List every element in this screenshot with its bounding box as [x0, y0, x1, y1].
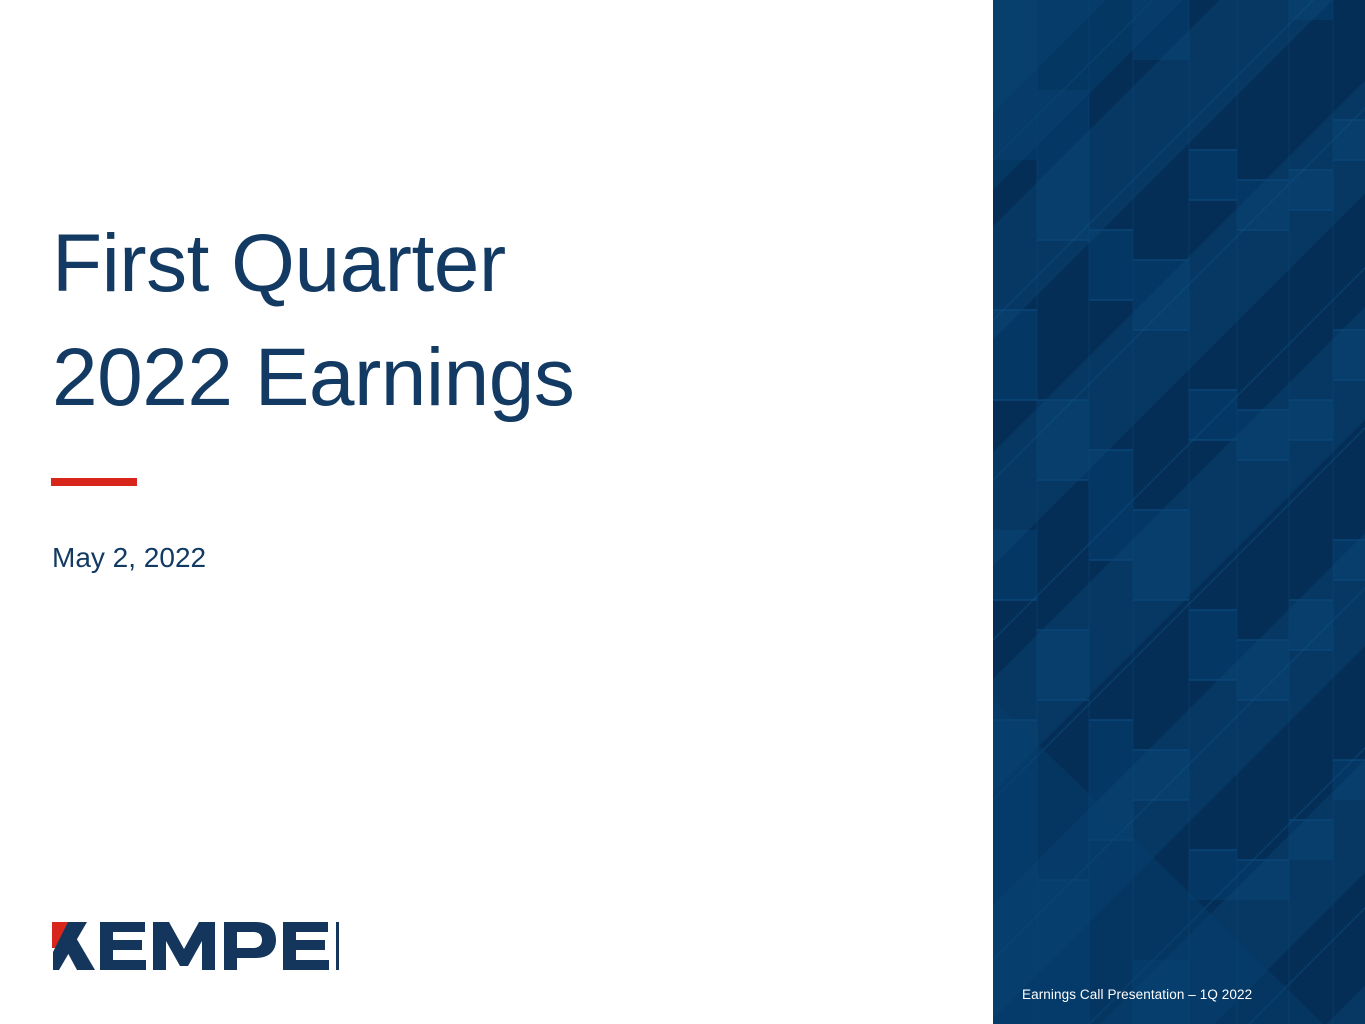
title-pane: First Quarter 2022 Earnings May 2, 2022 [0, 0, 993, 1024]
title-line-2: 2022 Earnings [52, 321, 752, 435]
red-accent-rule [51, 478, 137, 486]
geometric-pattern-icon [993, 0, 1365, 1024]
logo-wordmark [53, 922, 339, 970]
slide-footer: Earnings Call Presentation – 1Q 2022 [1022, 987, 1252, 1003]
presentation-slide: First Quarter 2022 Earnings May 2, 2022 [0, 0, 1365, 1024]
kemper-logo [50, 916, 340, 978]
decorative-side-panel: Earnings Call Presentation – 1Q 2022 [993, 0, 1365, 1024]
title-line-1: First Quarter [52, 207, 752, 321]
presentation-date: May 2, 2022 [52, 541, 206, 575]
page-title: First Quarter 2022 Earnings [52, 207, 752, 435]
